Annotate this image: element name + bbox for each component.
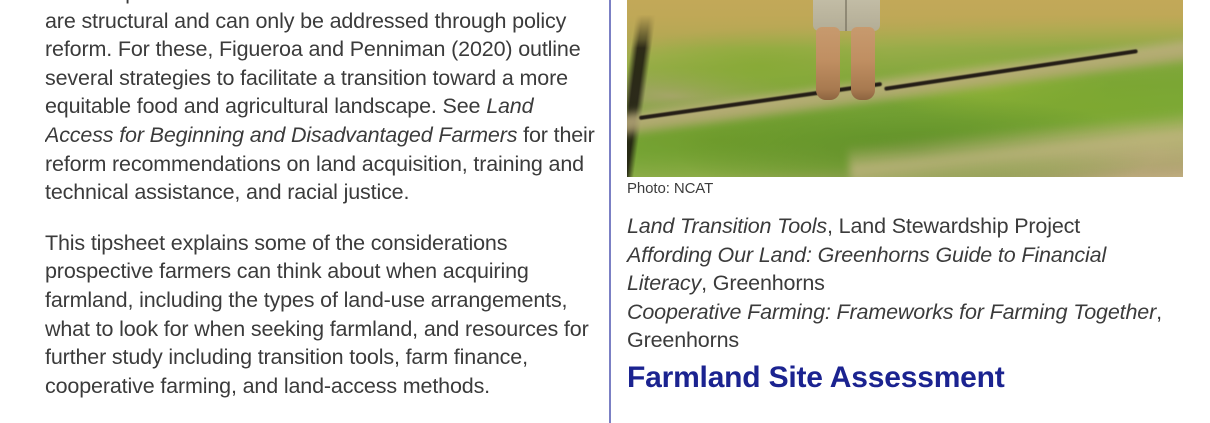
photo-credit-caption: Photo: NCAT — [627, 180, 713, 197]
photo-soil-path-lower — [848, 105, 1183, 177]
farmer-leg-right — [851, 27, 875, 100]
paragraph-barriers: own unique benefits and obstacles. Some … — [45, 0, 600, 207]
farm-field-photo — [627, 0, 1183, 177]
resource-land-transition-tools: Land Transition Tools, Land Stewardship … — [627, 212, 1187, 241]
document-page: own unique benefits and obstacles. Some … — [0, 0, 1210, 423]
resource-affording-our-land: Affording Our Land: Greenhorns Guide to … — [627, 241, 1187, 298]
resource-cooperative-farming: Cooperative Farming: Frameworks for Farm… — [627, 298, 1187, 355]
photo-image — [627, 0, 1183, 177]
left-text-column: own unique benefits and obstacles. Some … — [45, 0, 600, 423]
farmer-leg-left — [816, 27, 840, 100]
right-content-column: Photo: NCAT Land Transition Tools, Land … — [627, 0, 1187, 423]
column-divider — [609, 0, 611, 423]
farmer-figure — [813, 0, 880, 96]
section-heading-farmland-site-assessment: Farmland Site Assessment — [627, 360, 1005, 396]
paragraph-tipsheet-scope: This tipsheet explains some of the consi… — [45, 229, 600, 401]
photo-grass-band — [627, 0, 1183, 48]
resource-list: Land Transition Tools, Land Stewardship … — [627, 212, 1187, 355]
